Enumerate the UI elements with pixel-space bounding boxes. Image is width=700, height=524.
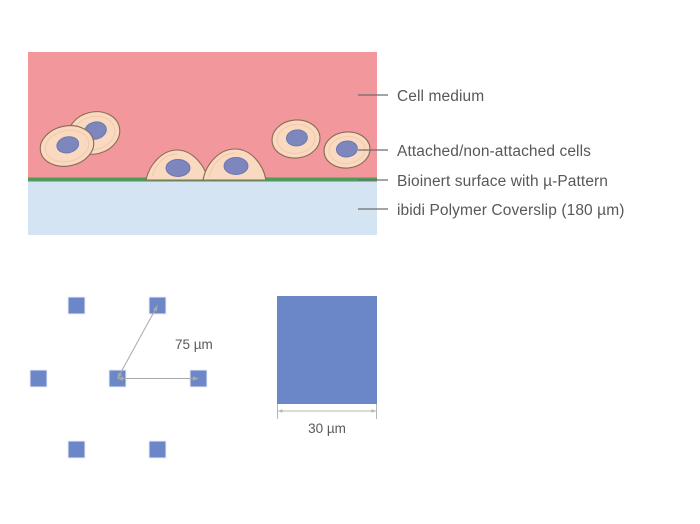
pattern-square (149, 441, 166, 458)
pattern-detail-square (277, 296, 377, 404)
cell-nucleus (224, 158, 248, 175)
cross-section-panel: Cell medium Attached/non-attached cells … (28, 52, 624, 235)
cell-nucleus (166, 160, 190, 177)
pattern-square (68, 297, 85, 314)
callout-label: Bioinert surface with µ-Pattern (397, 173, 608, 190)
polymer-coverslip-layer (28, 180, 377, 235)
width-dimension-label: 30 µm (308, 421, 346, 436)
spacing-dimension-label: 75 µm (175, 337, 213, 352)
micropattern-grid: 75 µm (30, 297, 213, 458)
micropattern-figure: Cell medium Attached/non-attached cells … (0, 0, 700, 524)
spacing-arrow-diagonal (118, 306, 158, 379)
pattern-square (68, 441, 85, 458)
callout-cells: Attached/non-attached cells (358, 143, 591, 160)
pattern-square (30, 370, 47, 387)
callout-coverslip: ibidi Polymer Coverslip (180 µm) (358, 202, 624, 219)
callout-label: Cell medium (397, 88, 484, 105)
callout-label: Attached/non-attached cells (397, 143, 591, 160)
single-pattern-detail: 30 µm (277, 296, 377, 436)
callout-label: ibidi Polymer Coverslip (180 µm) (397, 202, 624, 219)
callout-bioinert-surface: Bioinert surface with µ-Pattern (358, 173, 608, 190)
